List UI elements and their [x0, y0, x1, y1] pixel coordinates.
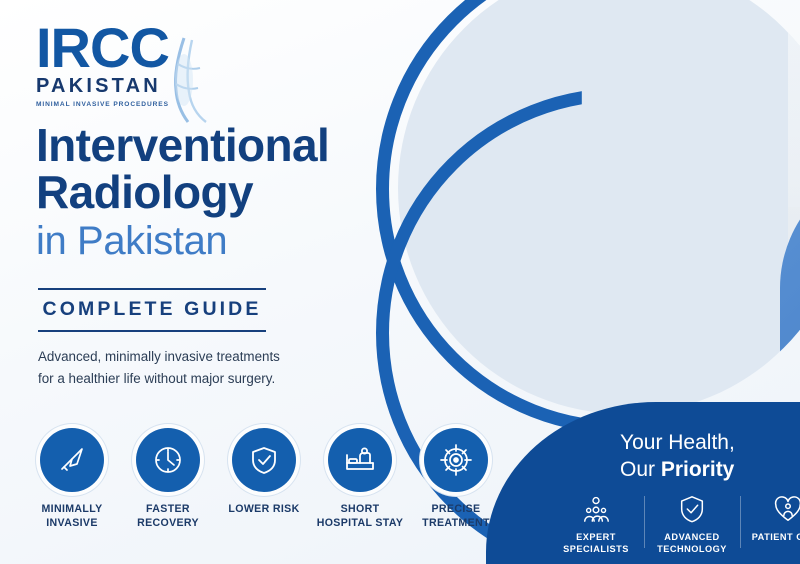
- feature-item-short-hospital-stay[interactable]: SHORT HOSPITAL STAY: [312, 428, 408, 530]
- panel-item-label: ADVANCED TECHNOLOGY: [644, 531, 740, 555]
- panel-item-advanced-technology[interactable]: ADVANCED TECHNOLOGY: [644, 494, 740, 555]
- headline-block: Interventional Radiology in Pakistan: [36, 122, 396, 265]
- feature-label: LOWER RISK: [228, 503, 299, 517]
- hospital-bed-icon: [343, 443, 377, 477]
- panel-item-label: PATIENT CARE: [752, 531, 800, 543]
- divider-bottom: [38, 330, 266, 332]
- panel-item-patient-care[interactable]: PATIENT CARE: [740, 494, 800, 555]
- description-text: Advanced, minimally invasive treatments …: [38, 346, 288, 389]
- panel-tagline-line2-bold: Priority: [661, 458, 735, 481]
- feature-item-lower-risk[interactable]: LOWER RISK: [216, 428, 312, 530]
- feature-label: MINIMALLY INVASIVE: [24, 503, 120, 530]
- panel-item-expert-specialists[interactable]: EXPERT SPECIALISTS: [548, 494, 644, 555]
- complete-guide-label: COMPLETE GUIDE: [38, 290, 266, 330]
- panel-feature-list: EXPERT SPECIALISTS ADVANCED TECHNOLOGY: [548, 494, 800, 555]
- feature-icon-circle: [328, 428, 392, 492]
- headline-line-3: in Pakistan: [36, 218, 396, 265]
- feature-item-faster-recovery[interactable]: FASTER RECOVERY: [120, 428, 216, 530]
- feature-item-minimally-invasive[interactable]: MINIMALLY INVASIVE: [24, 428, 120, 530]
- shield-check-icon: [248, 444, 280, 476]
- people-group-icon: [581, 494, 611, 524]
- feature-icon-circle: [136, 428, 200, 492]
- feature-icon-circle: [232, 428, 296, 492]
- feature-label: SHORT HOSPITAL STAY: [312, 503, 408, 530]
- clock-icon: [152, 444, 184, 476]
- logo-wordmark: IRCC: [36, 22, 266, 74]
- panel-item-label: EXPERT SPECIALISTS: [548, 531, 644, 555]
- feature-icon-circle: [40, 428, 104, 492]
- panel-tagline: Your Health, Our Priority: [620, 430, 735, 484]
- panel-tagline-line1: Your Health,: [620, 431, 735, 454]
- shield-check-icon: [677, 494, 707, 524]
- heart-person-icon: [773, 494, 800, 524]
- headline-line-2: Radiology: [36, 169, 396, 216]
- hero-photo: [788, 0, 800, 414]
- scalpel-icon: [56, 444, 88, 476]
- logo-country: PAKISTAN: [36, 75, 266, 98]
- feature-label: FASTER RECOVERY: [120, 503, 216, 530]
- feature-icon-circle: [424, 428, 488, 492]
- poster-canvas: IRCC PAKISTAN MINIMAL INVASIVE PROCEDURE…: [0, 0, 800, 564]
- feature-item-precise-treatment[interactable]: PRECISE TREATMENT: [408, 428, 504, 530]
- complete-guide-banner: COMPLETE GUIDE: [38, 288, 266, 332]
- panel-tagline-line2-normal: Our: [620, 458, 661, 481]
- target-crosshair-icon: [439, 443, 473, 477]
- feature-list: MINIMALLY INVASIVE FASTER RECOVERY: [24, 428, 504, 530]
- headline-line-1: Interventional: [36, 122, 396, 169]
- logo-tagline: MINIMAL INVASIVE PROCEDURES: [36, 101, 266, 108]
- brand-logo[interactable]: IRCC PAKISTAN MINIMAL INVASIVE PROCEDURE…: [36, 22, 266, 108]
- vascular-catheter-icon: [154, 34, 218, 124]
